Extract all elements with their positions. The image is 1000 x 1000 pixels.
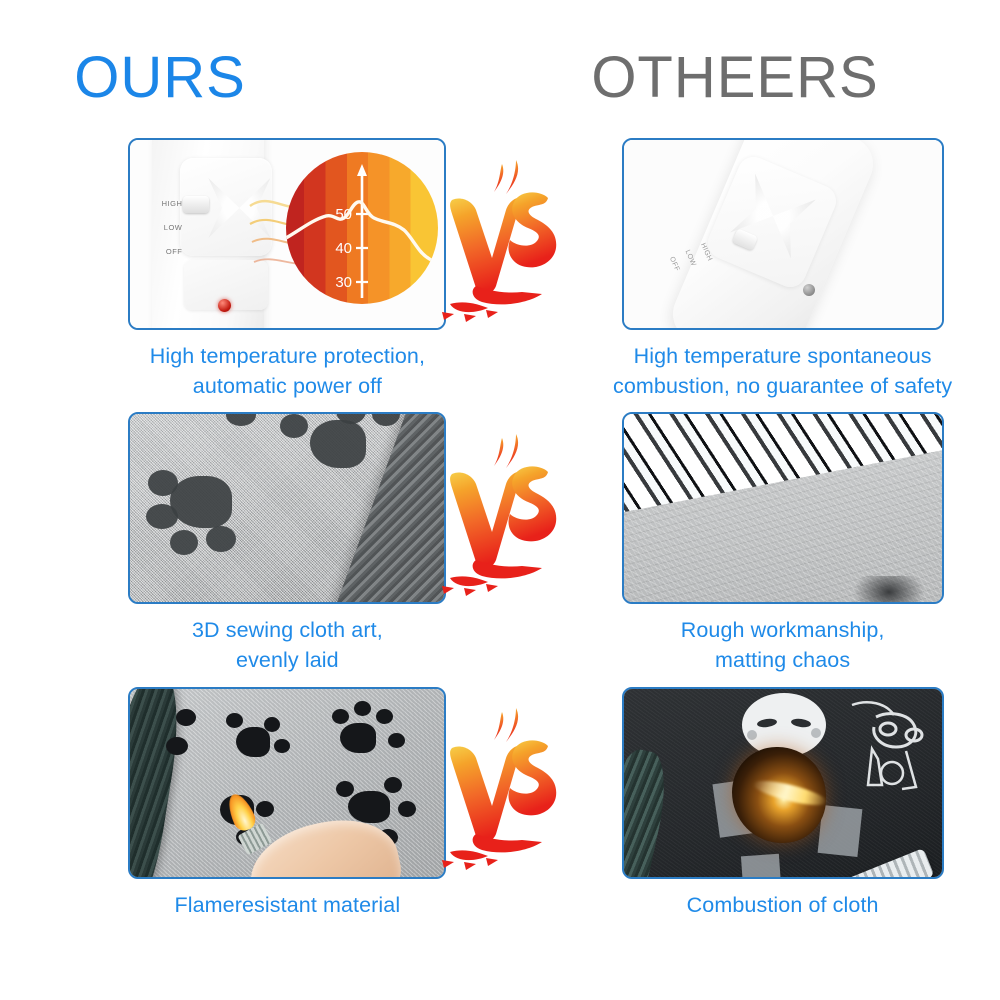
temp-tick-30: 30 — [336, 274, 353, 291]
temperature-curve-graph: 50 40 30 — [286, 152, 438, 304]
others-image-frame-2 — [622, 412, 944, 604]
temp-tick-40: 40 — [336, 240, 353, 257]
vs-badge-3 — [430, 706, 570, 876]
header-col-others: OTHEERS — [500, 38, 1000, 118]
ours-image-frame-2 — [128, 412, 446, 604]
controller-label-high: HIGH — [158, 192, 182, 216]
page-title-ours: OURS — [74, 49, 246, 107]
batting-shadow — [854, 576, 924, 604]
comparison-headers: OURS OTHEERS — [0, 38, 1000, 118]
ours-caption-1: High temperature protection, automatic p… — [72, 341, 502, 401]
others-cell-1: HIGH LOW OFF High temperature spontaneou… — [560, 138, 1000, 401]
vs-flame-icon — [430, 432, 570, 602]
controller-label-low: LOW — [158, 216, 182, 240]
controller-label-off: OFF — [158, 240, 182, 264]
fabric-patch — [741, 854, 781, 879]
others-caption-2-line1: Rough workmanship, — [593, 615, 973, 645]
ours-caption-3-line1: Flameresistant material — [97, 890, 477, 920]
ours-caption-1-line2: automatic power off — [72, 371, 502, 401]
ours-caption-1-line1: High temperature protection, — [72, 341, 502, 371]
others-caption-1-line2: combustion, no guarantee of safety — [568, 371, 998, 401]
others-caption-1: High temperature spontaneous combustion,… — [568, 341, 998, 401]
controller2-screw — [803, 284, 815, 296]
ours-image-frame-3 — [128, 687, 446, 879]
ours-image-frame-1: HIGH LOW OFF 50 40 — [128, 138, 446, 330]
others-caption-2-line2: matting chaos — [593, 645, 973, 675]
others-caption-3: Combustion of cloth — [593, 890, 973, 920]
vs-badge-2 — [430, 432, 570, 602]
others-cell-2: Rough workmanship, matting chaos — [560, 412, 1000, 675]
ours-caption-2: 3D sewing cloth art, evenly laid — [97, 615, 477, 675]
header-col-ours: OURS — [0, 38, 500, 118]
vs-flame-icon — [430, 706, 570, 876]
page-title-others: OTHEERS — [591, 49, 878, 107]
ours-caption-2-line1: 3D sewing cloth art, — [97, 615, 477, 645]
others-caption-1-line1: High temperature spontaneous — [568, 341, 998, 371]
ours-caption-3: Flameresistant material — [97, 890, 477, 920]
vs-flame-icon — [430, 158, 570, 328]
vs-badge-1 — [430, 158, 570, 328]
ours-caption-2-line2: evenly laid — [97, 645, 477, 675]
others-image-frame-1: HIGH LOW OFF — [622, 138, 944, 330]
others-caption-3-line1: Combustion of cloth — [593, 890, 973, 920]
controller-setting-labels: HIGH LOW OFF — [158, 192, 182, 264]
controller-slider-knob — [183, 196, 209, 213]
others-caption-2: Rough workmanship, matting chaos — [593, 615, 973, 675]
temperature-chart-circle: 50 40 30 — [286, 152, 438, 304]
others-cell-3: Combustion of cloth — [560, 687, 1000, 920]
others-image-frame-3 — [622, 687, 944, 879]
